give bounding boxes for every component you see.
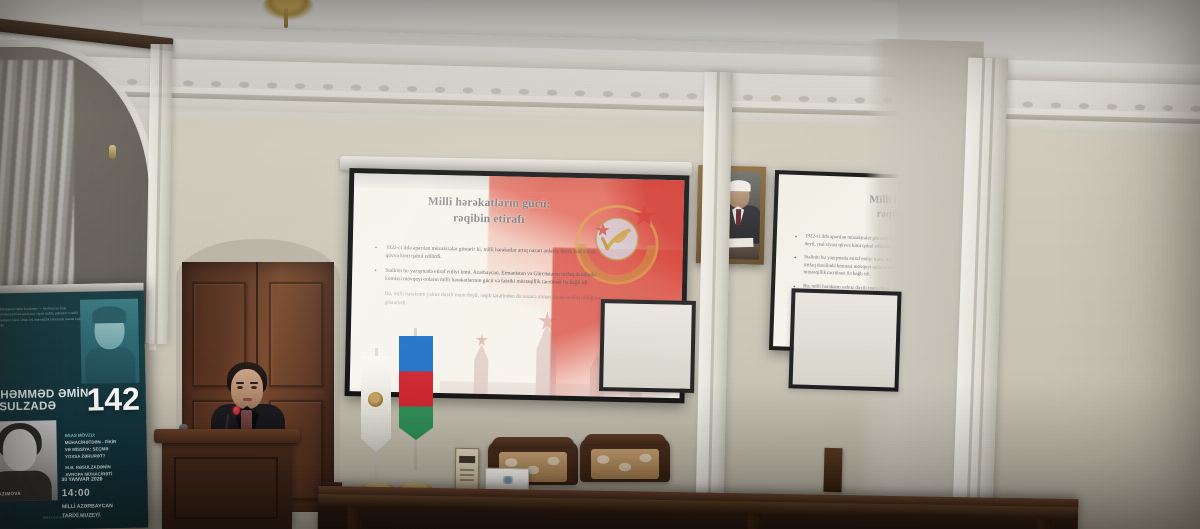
chair-crest <box>492 437 574 449</box>
envelope-seal-icon <box>503 476 513 484</box>
chair-crest <box>584 434 666 446</box>
speaker-podium <box>162 437 292 529</box>
pilaster-groove <box>707 72 720 529</box>
podium-front-panel <box>174 457 278 519</box>
speaker-eyebrow-left <box>236 382 244 384</box>
conference-hall-photo: Milli hərəkatların gücü: rəqibin etirafı… <box>0 0 1200 529</box>
banner-date: 30 YANVAR 2026 <box>61 475 141 485</box>
podium-top-surface <box>154 429 300 443</box>
banner-portrait-torso <box>85 347 136 384</box>
pilaster-groove <box>966 58 986 529</box>
azerbaijan-flag <box>399 336 433 440</box>
banner-time: 14:00 <box>62 484 142 502</box>
banner-speaker-head <box>2 429 37 472</box>
banner-body-text: Məhəmməd Əmin Rəsulzadə — Azərbaycan Xal… <box>0 306 86 329</box>
envelope-card[interactable] <box>485 468 529 492</box>
banner-anniversary-number: 142 <box>86 383 140 416</box>
speaker-eyebrow-right <box>250 382 258 384</box>
chair-upholstery <box>591 449 659 479</box>
pilaster-groove <box>976 58 996 529</box>
portrait-tie <box>736 209 741 225</box>
flag-stand-azerbaijan <box>393 336 443 496</box>
wall-frame-left <box>599 299 696 393</box>
banner-historical-portrait <box>80 299 140 384</box>
table-leg <box>347 507 362 529</box>
banner-topic-block: ƏSAS MÖVZU: MÜHACİRƏTDƏN - FİKİR VƏ MİSS… <box>64 431 141 479</box>
slide-bullet: Stalinin bu yazışmada etiraf etdiyi kimi… <box>374 267 606 288</box>
portrait-document <box>725 238 753 248</box>
nameplate-line <box>460 479 474 481</box>
table-nameplate[interactable] <box>455 448 480 490</box>
desk-stand-right <box>823 448 842 492</box>
table-leg <box>1037 519 1052 529</box>
banner-portrait-hair <box>92 306 126 324</box>
door-handle[interactable] <box>109 145 116 159</box>
banner-top-rail <box>0 283 144 294</box>
slide-bullet-list: 1922-ci ildə aparılan müzakirələr göstər… <box>373 244 606 319</box>
speaker-eye-right <box>251 386 257 389</box>
nameplate-line <box>460 474 474 476</box>
table-leg <box>747 514 762 529</box>
banner-speaker-photo: A. KAZIMOVA <box>0 420 58 501</box>
rollup-banner: Məhəmməd Əmin Rəsulzadə — Azərbaycan Xal… <box>0 283 148 529</box>
pilaster-groove <box>154 44 162 344</box>
banner-speaker-torso <box>0 470 52 501</box>
chair-right[interactable] <box>580 438 670 498</box>
nameplate-line <box>460 469 474 471</box>
nameplate-header-bar <box>459 456 475 463</box>
slide-title-line-2: rəqibin etirafı <box>381 209 596 229</box>
flag-emblem-icon <box>368 392 383 407</box>
portrait-hair <box>728 180 751 192</box>
slide-bullet: Bu, milli hərəkatın yalnız daxili inam d… <box>373 290 605 311</box>
speaker-mouth <box>243 398 252 401</box>
speaker-eye-left <box>237 386 243 389</box>
chandelier-rod <box>284 8 288 28</box>
slide-title: Milli hərəkatların gücü: rəqibin etirafı <box>381 194 597 230</box>
speaker-head <box>231 369 263 409</box>
wall-frame-right <box>788 288 901 391</box>
ceiling-panel <box>140 0 900 47</box>
microphone-icon[interactable] <box>233 406 240 415</box>
